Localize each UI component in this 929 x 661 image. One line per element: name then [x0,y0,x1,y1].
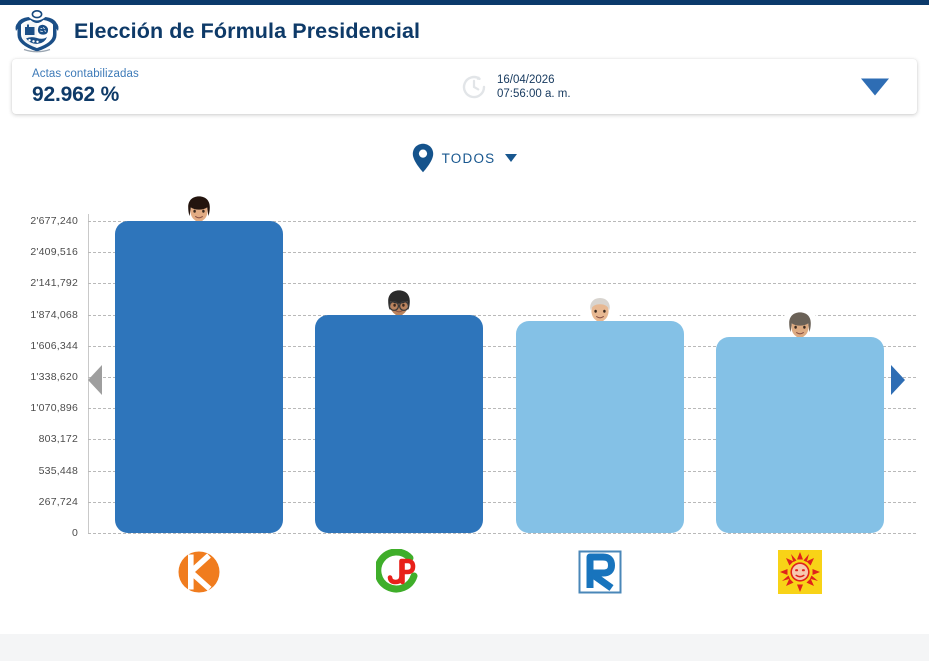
election-results-page: Elección de Fórmula Presidencial Actas c… [0,0,929,661]
page-header: Elección de Fórmula Presidencial [0,5,929,57]
chevron-down-icon [505,154,517,162]
actas-block: Actas contabilizadas 92.962 % [12,67,432,107]
chevron-down-icon[interactable] [861,78,889,95]
party-logo-r-icon[interactable] [516,543,684,601]
datetime-block: 16/04/2026 07:56:00 a. m. [460,73,571,101]
page-title: Elección de Fórmula Presidencial [74,19,420,44]
datetime-text: 16/04/2026 07:56:00 a. m. [497,73,571,101]
chevron-right-icon[interactable] [891,365,905,395]
party-logo-k-icon[interactable] [115,543,283,601]
clock-refresh-icon [460,73,488,101]
chevron-left-icon[interactable] [88,365,102,395]
party-logo-sun-icon[interactable] [716,543,884,601]
report-time: 07:56:00 a. m. [497,87,571,101]
chart-bar[interactable] [516,321,684,533]
report-date: 16/04/2026 [497,73,571,87]
actas-percentage: 92.962 % [32,82,432,107]
results-bar-chart: 2'677,2402'409,5162'141,7921'874,0681'60… [0,190,929,610]
location-filter-label: TODOS [442,151,496,166]
peru-coat-of-arms-icon [14,9,60,53]
chart-bar[interactable] [315,315,483,533]
party-logo-row [0,543,929,603]
party-logo-jp-icon[interactable] [315,543,483,601]
actas-label: Actas contabilizadas [32,67,432,82]
summary-card: Actas contabilizadas 92.962 % 16/04/2026… [12,59,917,114]
gridline [88,533,916,534]
footer-band [0,634,929,661]
location-filter[interactable]: TODOS [0,143,929,173]
chart-bar[interactable] [716,337,884,533]
chart-bar[interactable] [115,221,283,533]
map-pin-icon [412,143,434,173]
